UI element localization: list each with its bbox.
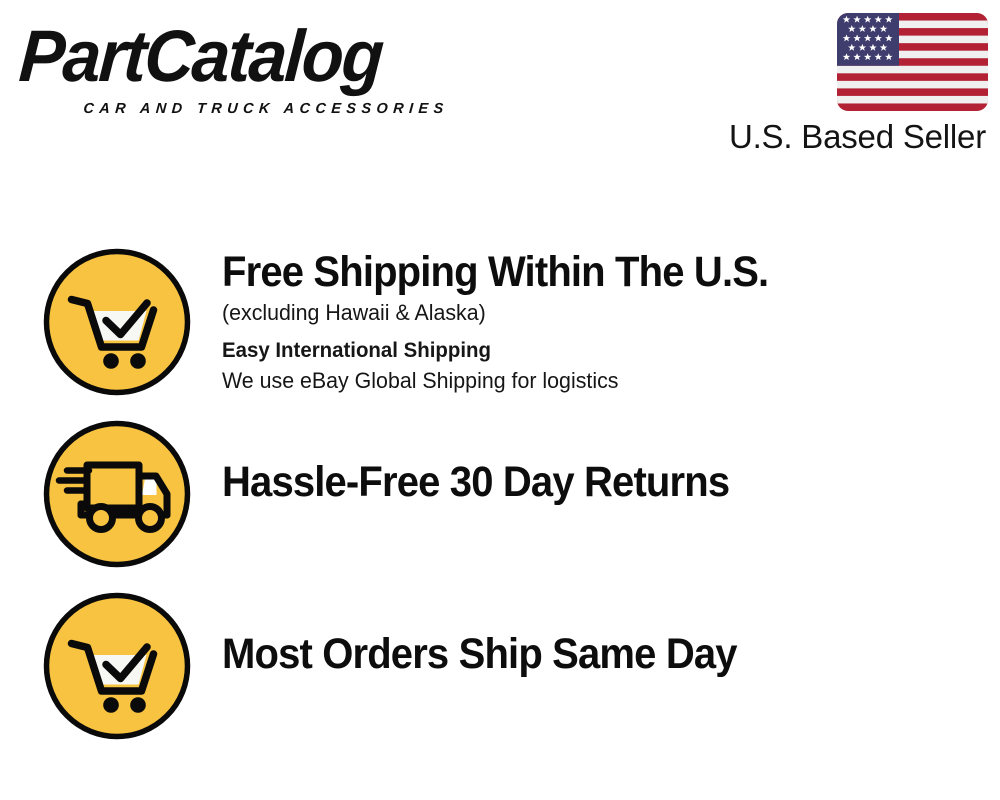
feature-list: Free Shipping Within The U.S. (excluding… (0, 175, 1000, 800)
feature-heading: Hassle-Free 30 Day Returns (222, 457, 929, 507)
feature-row: Free Shipping Within The U.S. (excluding… (0, 235, 1000, 407)
brand-logo: PartCatalog CAR AND TRUCK ACCESSORIES (22, 18, 492, 113)
feature-text-block: Hassle-Free 30 Day Returns (222, 457, 982, 507)
feature-sub-strong: Easy International Shipping (222, 335, 944, 365)
us-based-seller-label: U.S. Based Seller (729, 117, 986, 157)
feature-sub-plain: We use eBay Global Shipping for logistic… (222, 366, 944, 396)
feature-subnote: (excluding Hawaii & Alaska) (222, 298, 944, 328)
feature-text-block: Most Orders Ship Same Day (222, 629, 982, 679)
page-header: PartCatalog CAR AND TRUCK ACCESSORIES (0, 0, 1000, 175)
feature-row: Most Orders Ship Same Day (0, 579, 1000, 751)
feature-heading: Free Shipping Within The U.S. (222, 247, 929, 297)
feature-row: Hassle-Free 30 Day Returns (0, 407, 1000, 579)
shopping-cart-check-icon (43, 592, 191, 740)
feature-text-block: Free Shipping Within The U.S. (excluding… (222, 247, 982, 396)
shopping-cart-check-icon (43, 248, 191, 396)
fast-delivery-truck-icon (43, 420, 191, 568)
us-flag-icon (837, 13, 988, 111)
brand-tagline: CAR AND TRUCK ACCESSORIES (83, 101, 449, 117)
feature-heading: Most Orders Ship Same Day (222, 629, 929, 679)
brand-wordmark: PartCatalog (17, 18, 384, 96)
